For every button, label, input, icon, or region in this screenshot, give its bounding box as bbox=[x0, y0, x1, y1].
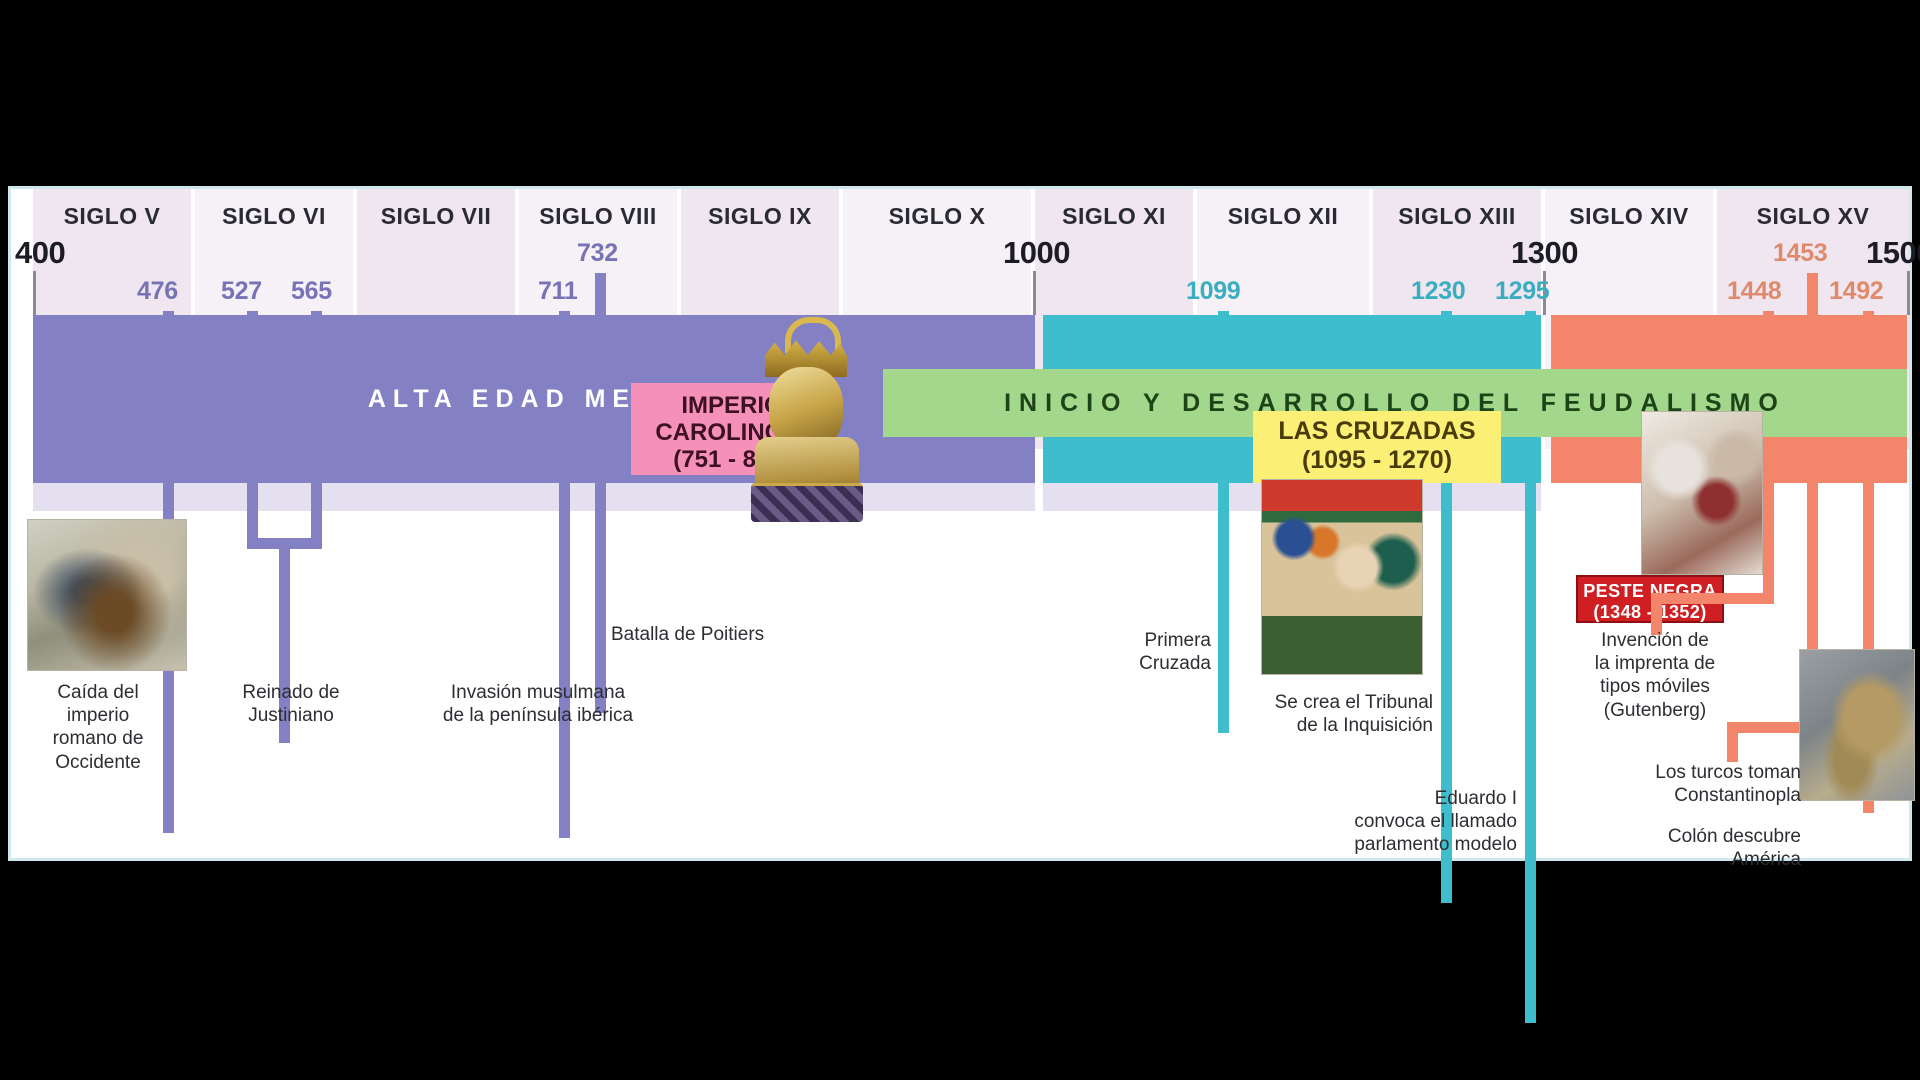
connector-1453-drop bbox=[1727, 722, 1738, 762]
milestone-1500: 1500 bbox=[1866, 235, 1920, 271]
caption-primera-cruzada: Primera Cruzada bbox=[1071, 629, 1211, 675]
milestone-400-tick bbox=[33, 271, 36, 315]
connector-711 bbox=[559, 483, 570, 838]
bust-base bbox=[751, 483, 863, 522]
date-476: 476 bbox=[137, 277, 178, 306]
century-label: SIGLO IX bbox=[681, 203, 839, 230]
caption-turcos-constantinopla: Los turcos toman Constantinopla bbox=[1551, 761, 1801, 807]
caption-caida-imperio: Caída del imperio romano de Occidente bbox=[23, 681, 173, 774]
date-732: 732 bbox=[577, 239, 618, 268]
cruzadas-range: (1095 - 1270) bbox=[1253, 446, 1501, 475]
date-1492: 1492 bbox=[1829, 277, 1883, 306]
century-label: SIGLO X bbox=[843, 203, 1031, 230]
timeline-infographic: SIGLO V SIGLO VI SIGLO VII SIGLO VIII SI… bbox=[0, 0, 1920, 1080]
caption-invasion-musulmana: Invasión musulmana de la península ibéri… bbox=[423, 681, 653, 727]
caption-reinado-justiniano: Reinado de Justiniano bbox=[201, 681, 381, 727]
century-label: SIGLO XIV bbox=[1545, 203, 1713, 230]
century-label: SIGLO VI bbox=[195, 203, 353, 230]
connector-732 bbox=[595, 483, 606, 713]
date-527: 527 bbox=[221, 277, 262, 306]
connector-1448 bbox=[1763, 483, 1774, 603]
milestone-1000: 1000 bbox=[1003, 235, 1070, 271]
century-label: SIGLO XIII bbox=[1373, 203, 1541, 230]
caption-eduardo-i: Eduardo I convoca el llamado parlamento … bbox=[1301, 787, 1517, 857]
milestone-1300: 1300 bbox=[1511, 235, 1578, 271]
image-mapa-america bbox=[1799, 649, 1915, 801]
peste-range: (1348 - 1352) bbox=[1578, 602, 1722, 623]
caption-imprenta-gutenberg: Invención de la imprenta de tipos móvile… bbox=[1571, 629, 1739, 722]
period-box-las-cruzadas: LAS CRUZADAS (1095 - 1270) bbox=[1253, 411, 1501, 483]
connector-1295 bbox=[1525, 483, 1536, 1023]
century-label: SIGLO XI bbox=[1035, 203, 1193, 230]
date-1453: 1453 bbox=[1773, 239, 1827, 268]
charlemagne-bust-image bbox=[751, 333, 863, 523]
timeline-card: SIGLO V SIGLO VI SIGLO VII SIGLO VIII SI… bbox=[8, 186, 1912, 861]
date-1230: 1230 bbox=[1411, 277, 1465, 306]
caption-colon-america: Colón descubre América bbox=[1581, 825, 1801, 871]
date-1448: 1448 bbox=[1727, 277, 1781, 306]
century-label: SIGLO V bbox=[33, 203, 191, 230]
century-label: SIGLO XII bbox=[1197, 203, 1369, 230]
date-711: 711 bbox=[538, 277, 577, 306]
caption-inquisicion: Se crea el Tribunal de la Inquisición bbox=[1211, 691, 1433, 737]
image-caida-imperio-romano bbox=[27, 519, 187, 671]
date-565: 565 bbox=[291, 277, 332, 306]
milestone-400: 400 bbox=[15, 235, 65, 271]
connector-1448-elbow bbox=[1651, 593, 1774, 604]
milestone-1000-tick bbox=[1033, 271, 1036, 315]
century-label: SIGLO VII bbox=[357, 203, 515, 230]
era-tail-alta bbox=[33, 483, 1035, 511]
milestone-1500-tick bbox=[1907, 271, 1910, 315]
date-1295: 1295 bbox=[1495, 277, 1549, 306]
image-cruzadas bbox=[1261, 479, 1423, 675]
date-1099: 1099 bbox=[1186, 277, 1240, 306]
cruzadas-title: LAS CRUZADAS bbox=[1253, 417, 1501, 446]
image-peste-negra bbox=[1641, 411, 1763, 575]
caption-batalla-poitiers: Batalla de Poitiers bbox=[611, 623, 841, 646]
century-label: SIGLO XV bbox=[1717, 203, 1909, 230]
century-label: SIGLO VIII bbox=[519, 203, 677, 230]
